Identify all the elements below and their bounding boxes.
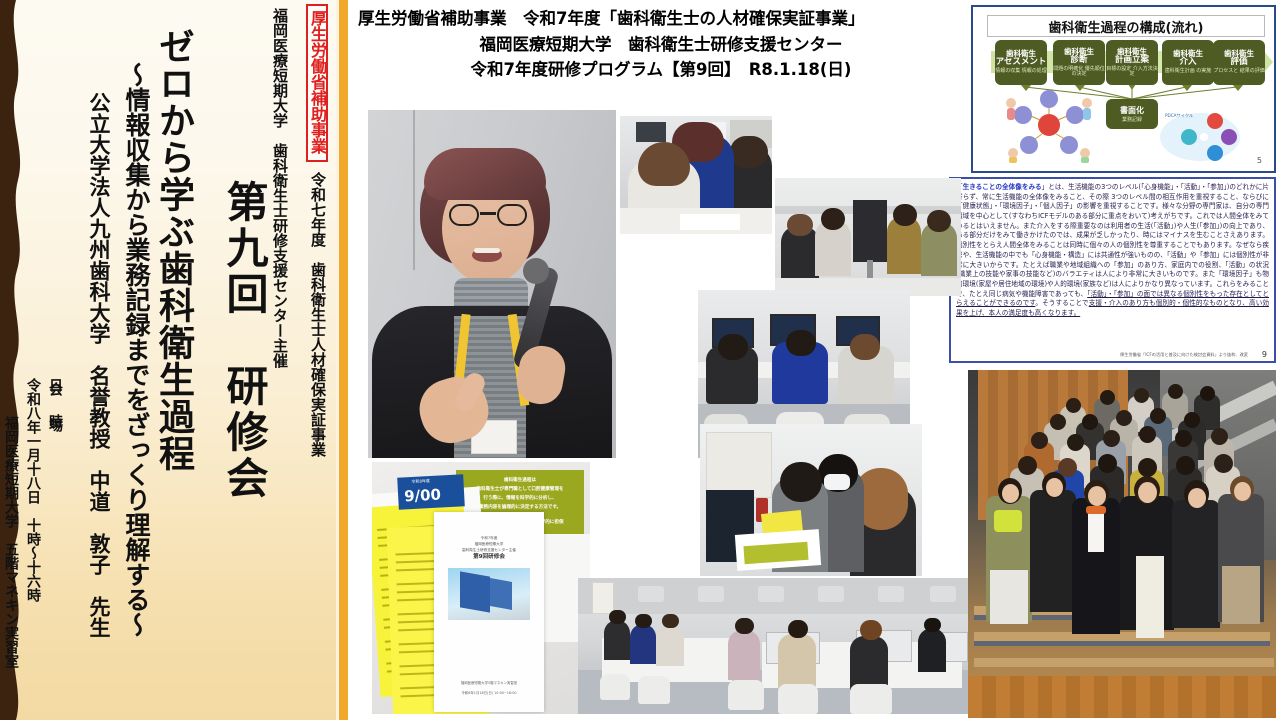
handout-sign-line-1: 歯科衛生過程は — [460, 478, 580, 484]
diagram-step-2: 歯科衛生 計画立案 目標の設定 介入方法決定 — [1106, 40, 1158, 85]
booklet-title: 第9回研修会 — [446, 552, 532, 560]
handout-card-number: 9/00 — [404, 485, 442, 505]
diagram-step-3-sub: 歯科衛生計画 の実施 — [1165, 69, 1212, 74]
header-line-3: 令和7年度研修プログラム【第9回】 R8.1.18(日) — [356, 57, 966, 83]
diagram-document-main: 書面化 — [1120, 105, 1144, 116]
poster-university-text: 福岡医療短期大学 歯科衛生士研修支援センター主催 — [272, 8, 287, 368]
booklet-venue: 福岡医療短期大学5階マネキン実習室 — [446, 681, 532, 686]
poster-place-value-text: 福岡医療短期大学 五階マネキン実習室 — [4, 416, 18, 668]
diagram-step-4-sub: プロセスと 結果の評価 — [1213, 69, 1265, 74]
lecturer-photo — [368, 110, 616, 458]
icf-explanation-text: 「生きることの全体像をみる」とは、生活機能の3つのレベル(「心身機能」・「活動」… — [956, 183, 1269, 319]
handouts-photo: 歯科衛生過程は 歯科衛生士が専門職として口腔健康管理を 行う際に、情報を科学的に… — [372, 462, 590, 714]
poster-speaker-text: 公立大学法人九州歯科大学 名誉教授 中道 敦子 先生 — [88, 92, 109, 638]
poster-fiscal-year-line: 令和七年度 歯科衛生士人材確保実証事業 — [310, 172, 325, 461]
poster-orange-edge — [339, 0, 348, 720]
event-poster-panel: 福岡医療短期大学 歯科衛生士研修支援センター主催 厚生労働省補助事業 令和七年度… — [0, 0, 348, 720]
diagram-step-1-sub: 問題の明確化 優先順位の決定 — [1053, 67, 1105, 78]
poster-subtitle-text: ～情報収集から業務記録までをざっくり理解する～ — [124, 62, 149, 637]
classroom-wide-photo — [775, 178, 961, 296]
diagram-step-3: 歯科衛生 介入 歯科衛生計画 の実施 — [1162, 40, 1214, 85]
handout-blue-card: 令和8年度 9/00 — [397, 474, 465, 509]
handout-card-year: 令和8年度 — [411, 478, 430, 485]
header-line-1: 厚生労働省補助事業 令和7年度「歯科衛生士の人材確保実証事業」 — [356, 6, 966, 32]
poster-subtitle: ～情報収集から業務記録までをざっくり理解する～ — [124, 62, 149, 641]
icf-explanation-box: 「生きることの全体像をみる」とは、生活機能の3つのレベル(「心身機能」・「活動」… — [949, 177, 1276, 363]
slide-canvas: 福岡医療短期大学 歯科衛生士研修支援センター主催 厚生労働省補助事業 令和七年度… — [0, 0, 1280, 720]
diagram-pdca-illustration: PDCAサイクル — [1159, 107, 1241, 163]
booklet-org-1: 令和7年度 — [446, 536, 532, 541]
poster-place-value: 福岡医療短期大学 五階マネキン実習室 — [4, 416, 18, 672]
ministry-badge: 厚生労働省補助事業 — [306, 4, 328, 162]
three-students-photo — [700, 424, 922, 576]
poster-university-line: 福岡医療短期大学 歯科衛生士研修支援センター主催 — [272, 8, 287, 372]
diagram-document-box: 書面化 業務記録 — [1106, 99, 1158, 129]
diagram-step-4: 歯科衛生 評価 プロセスと 結果の評価 — [1213, 40, 1265, 85]
group-photo — [968, 370, 1276, 718]
slide-header: 厚生労働省補助事業 令和7年度「歯科衛生士の人材確保実証事業」 福岡医療短期大学… — [356, 6, 966, 83]
diagram-step-4-main: 評価 — [1230, 58, 1247, 67]
diagram-step-2-main: 計画立案 — [1115, 56, 1149, 65]
diagram-wheel-illustration — [999, 85, 1099, 163]
pair-writing-photo — [620, 116, 772, 234]
diagram-step-2-sub: 目標の設定 介入方法決定 — [1106, 67, 1158, 78]
booklet-date: 令和8年1月18日(日) 10:00~16:00 — [446, 691, 532, 696]
poster-session-number: 第九回 研修会 — [223, 180, 265, 506]
wall-scroll-icon — [592, 582, 614, 614]
handout-booklet: 令和7年度 福岡医療短期大学 歯科衛生士研修支援センター主催 第9回研修会 福岡… — [434, 512, 544, 712]
booklet-org-2: 福岡医療短期大学 — [446, 542, 532, 547]
poster-title-text: ゼロから学ぶ歯科衛生過程 — [155, 28, 191, 472]
poster-session-number-text: 第九回 研修会 — [223, 180, 265, 502]
poster-place-label: 会 場 — [48, 382, 62, 440]
poster-speaker: 公立大学法人九州歯科大学 名誉教授 中道 敦子 先生 — [88, 92, 109, 642]
header-line-2: 福岡医療短期大学 歯科衛生士研修支援センター — [356, 32, 966, 58]
poster-place-label-text: 会 場 — [48, 382, 62, 436]
ministry-badge-text: 厚生労働省補助事業 — [309, 10, 325, 154]
diagram-step-1: 歯科衛生 診断 問題の明確化 優先順位の決定 — [1053, 40, 1105, 85]
glasses-icon — [449, 204, 527, 226]
poster-fiscal-year-text: 令和七年度 歯科衛生士人材確保実証事業 — [310, 172, 325, 457]
diagram-step-0-main: アセスメント — [996, 58, 1047, 67]
poster-title: ゼロから学ぶ歯科衛生過程 — [155, 28, 191, 476]
poster-date-value-text: 令和八年一月十八日 十時～十六時 — [26, 378, 40, 602]
icf-credit-text: 厚生労働省「ICFの活用と普及に向けた検討会資料」より抜粋、改変 — [1120, 352, 1248, 358]
diagram-step-0: 歯科衛生 アセスメント 情報の収集 情報の処理 — [995, 40, 1047, 85]
diagram-document-sub: 業務記録 — [1122, 116, 1142, 123]
diagram-page-number: 5 — [1257, 156, 1262, 165]
poster-date-value: 令和八年一月十八日 十時～十六時 — [26, 378, 40, 606]
diagram-step-3-main: 介入 — [1179, 58, 1196, 67]
diagram-step-0-sub: 情報の収集 情報の処理 — [995, 69, 1047, 74]
diagram-step-1-main: 診断 — [1070, 56, 1087, 65]
lecture-room-wide-photo — [578, 578, 970, 714]
icf-page-number: 9 — [1262, 350, 1267, 359]
process-diagram: 歯科衛生過程の構成(流れ) 歯科衛生 アセスメント 情報の収集 情報の処理 歯科… — [971, 5, 1276, 173]
